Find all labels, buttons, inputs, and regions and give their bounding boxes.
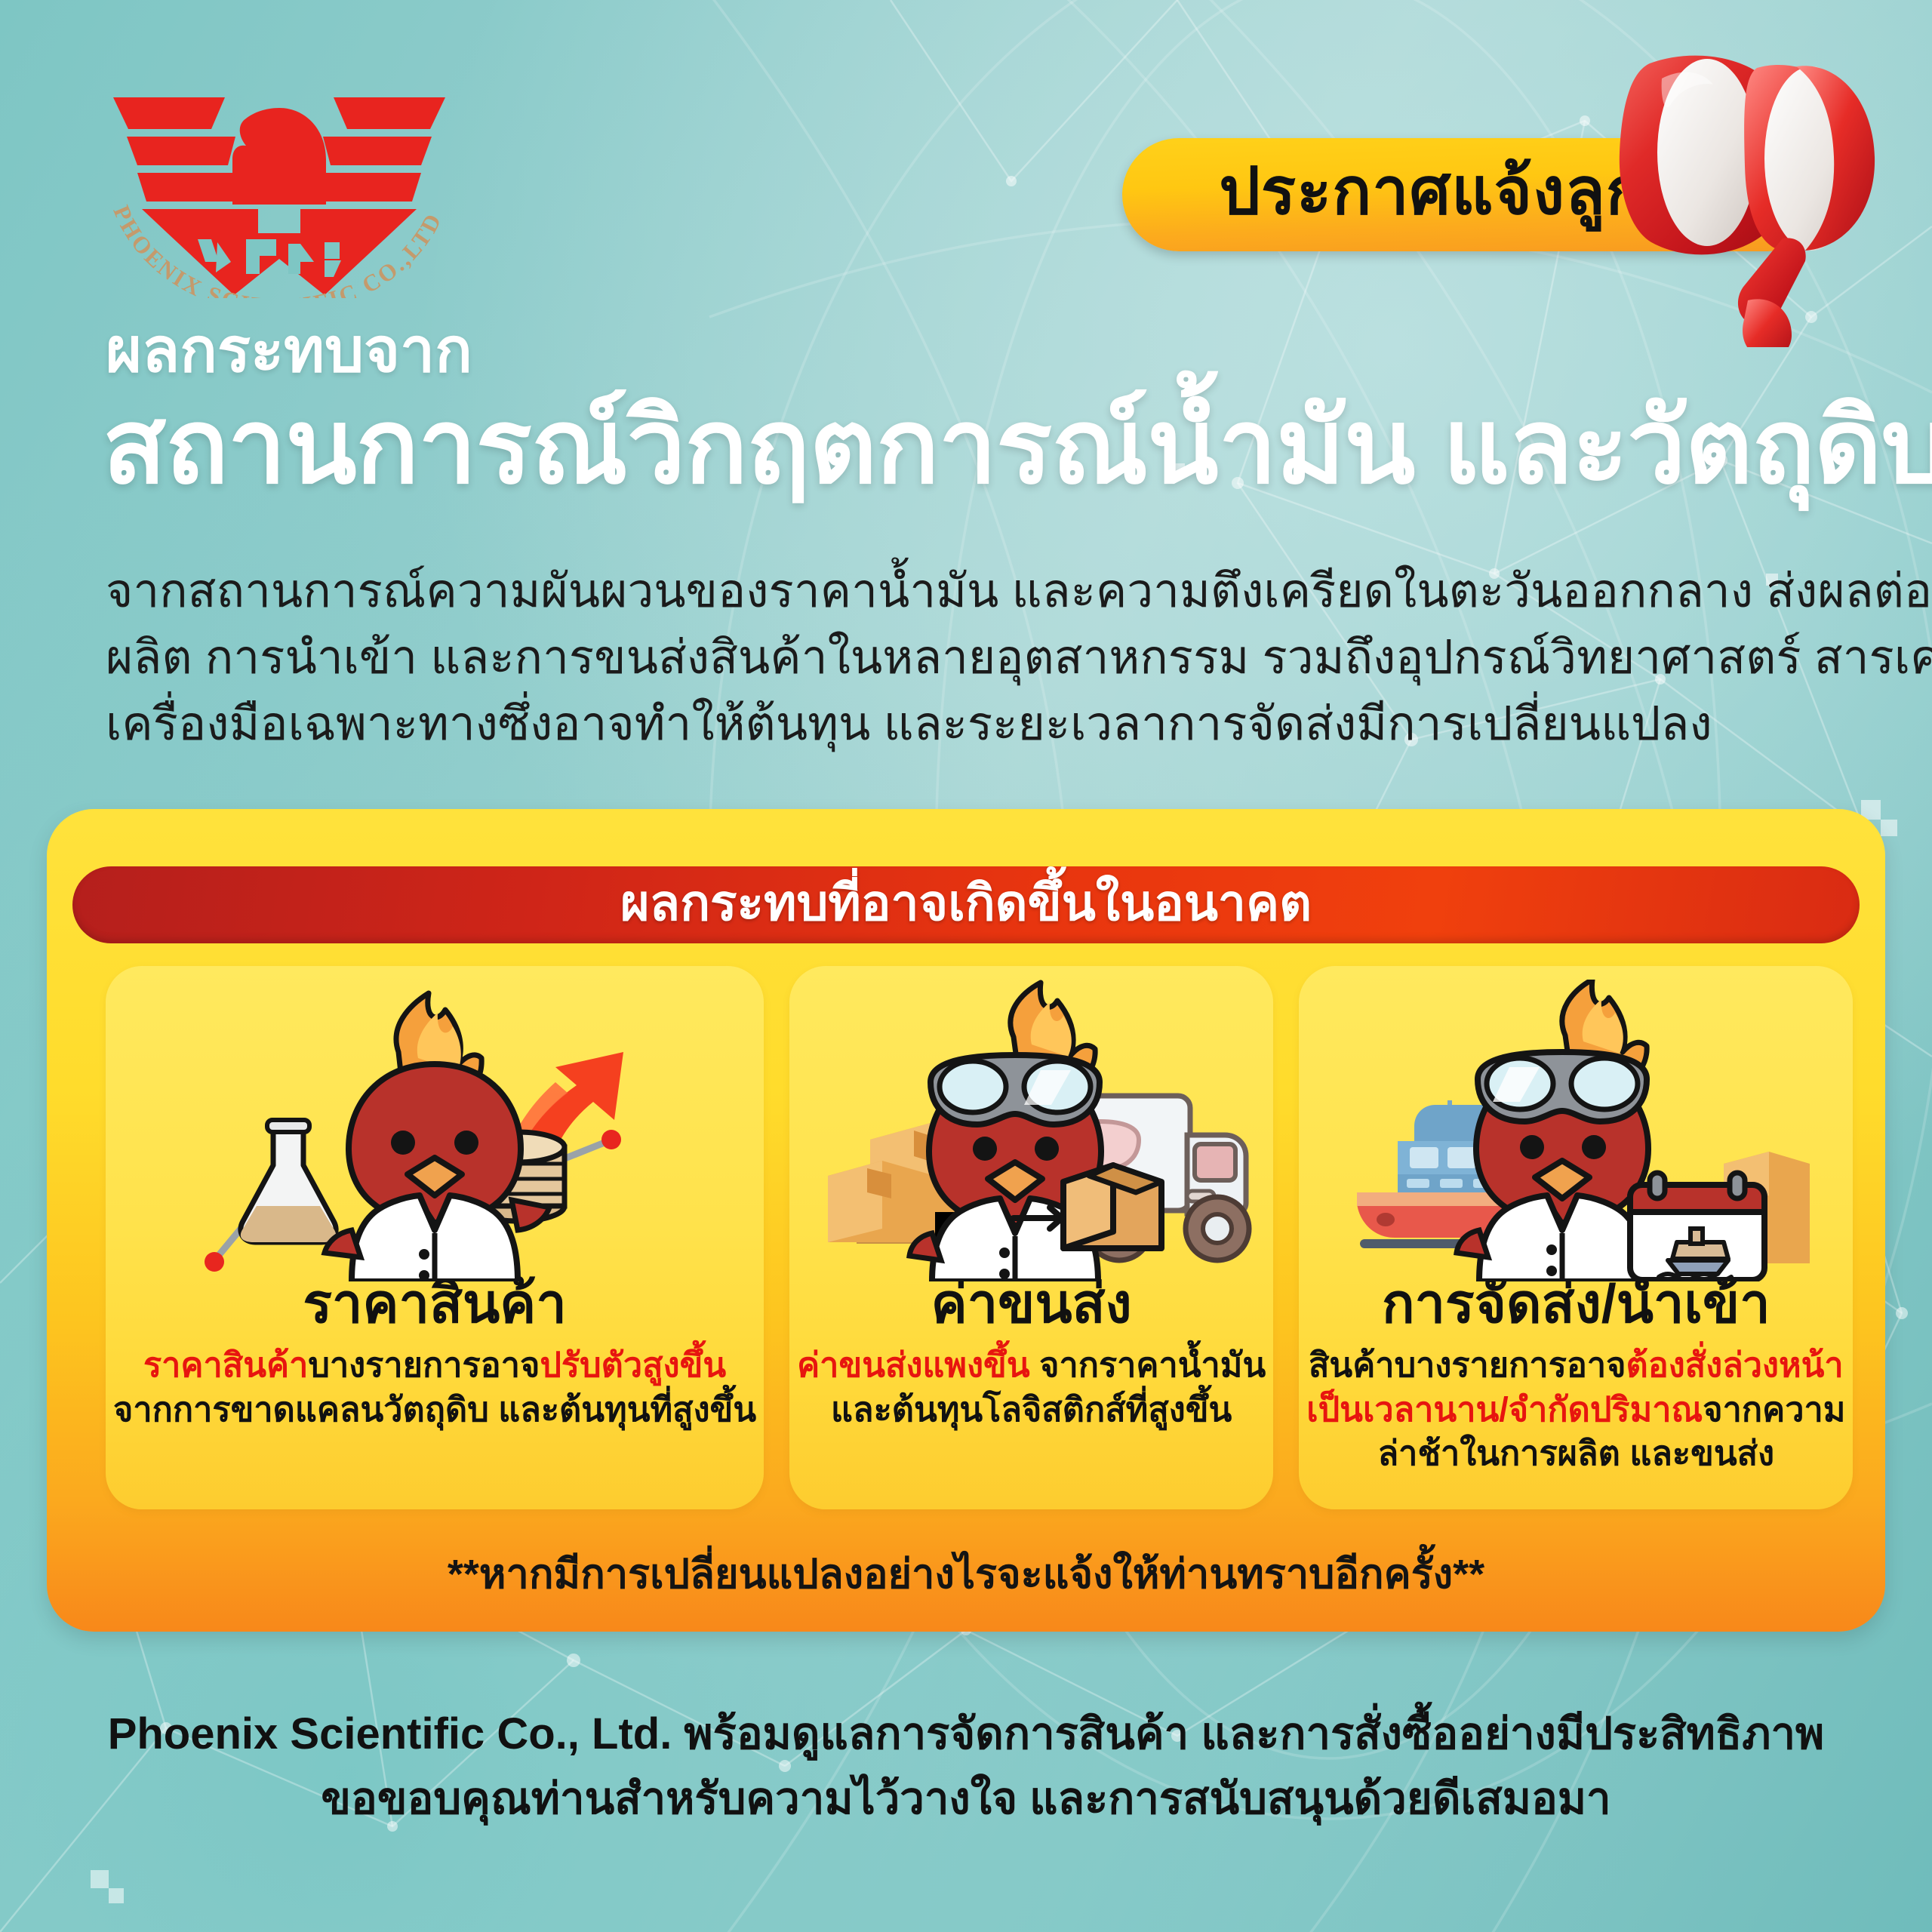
impact-panel-banner: ผลกระทบที่อาจเกิดขึ้นในอนาคต — [72, 866, 1860, 943]
page-eyebrow: ผลกระทบจาก — [106, 317, 472, 385]
impact-card-title: ราคาสินค้า — [303, 1277, 566, 1331]
impact-card-list: ราคาสินค้า ราคาสินค้าบางรายการอาจปรับตัว… — [106, 966, 1826, 1509]
intro-paragraph: จากสถานการณ์ความผันผวนของราคาน้ำมัน และค… — [106, 558, 1841, 758]
phoenix-with-flask-coins-arrow-icon — [106, 980, 764, 1281]
phoenix-with-ship-calendar-icon — [1299, 980, 1853, 1281]
phoenix-with-truck-boxes-icon — [789, 980, 1273, 1281]
desc-seg: และต้นทุนโลจิสติกส์ที่สูงขึ้น — [831, 1390, 1232, 1429]
panel-footnote: **หากมีการเปลี่ยนแปลงอย่างไรจะแจ้งให้ท่า… — [0, 1541, 1932, 1606]
desc-seg: จากความ — [1703, 1390, 1845, 1429]
footer-line: ขอขอบคุณท่านสำหรับความไว้วางใจ และการสนั… — [0, 1767, 1932, 1832]
desc-seg: ล่าช้าในการผลิต และขนส่ง — [1378, 1434, 1774, 1472]
impact-card-title: การจัดส่ง/นำเข้า — [1382, 1277, 1770, 1331]
desc-seg: จากการขาดแคลนวัตถุดิบ และต้นทุนที่สูงขึ้… — [113, 1390, 756, 1429]
intro-line: ผลิต การนำเข้า และการขนส่งสินค้าในหลายอุ… — [106, 625, 1841, 691]
impact-card-description: ค่าขนส่งแพงขึ้น จากราคาน้ำมัน และต้นทุนโ… — [789, 1343, 1273, 1432]
desc-seg: สินค้าบางรายการอาจ — [1309, 1346, 1626, 1384]
impact-card-description: สินค้าบางรายการอาจต้องสั่งล่วงหน้า เป็นเ… — [1299, 1343, 1853, 1476]
page-title: สถานการณ์วิกฤตการณ์น้ำมัน และวัตถุดิบ — [103, 392, 1932, 502]
intro-line: จากสถานการณ์ความผันผวนของราคาน้ำมัน และค… — [106, 558, 1841, 625]
desc-seg: บางรายการอาจ — [308, 1346, 540, 1384]
impact-card-description: ราคาสินค้าบางรายการอาจปรับตัวสูงขึ้น จาก… — [106, 1343, 764, 1432]
desc-seg: ค่าขนส่งแพงขึ้น — [797, 1346, 1030, 1384]
megaphone-icon — [1577, 45, 1894, 347]
desc-seg: ปรับตัวสูงขึ้น — [540, 1346, 726, 1384]
footer-line: Phoenix Scientific Co., Ltd. พร้อมดูแลกา… — [0, 1702, 1932, 1767]
impact-card-delivery-import[interactable]: การจัดส่ง/นำเข้า สินค้าบางรายการอาจต้องส… — [1299, 966, 1853, 1509]
impact-card-shipping-cost[interactable]: ค่าขนส่ง ค่าขนส่งแพงขึ้น จากราคาน้ำมัน แ… — [789, 966, 1273, 1509]
impact-card-title: ค่าขนส่ง — [931, 1277, 1132, 1331]
company-logo: PHOENIX SCIENTIFIC CO.,LTD. — [98, 72, 460, 298]
impact-panel-banner-label: ผลกระทบที่อาจเกิดขึ้นในอนาคต — [620, 878, 1312, 932]
desc-seg: จากราคาน้ำมัน — [1030, 1346, 1266, 1384]
desc-seg: เป็นเวลานาน/จำกัดปริมาณ — [1306, 1390, 1703, 1429]
phoenix-wings-logo-icon: PHOENIX SCIENTIFIC CO.,LTD. — [98, 72, 460, 298]
intro-line: เครื่องมือเฉพาะทางซึ่งอาจทำให้ต้นทุน และ… — [106, 691, 1841, 758]
desc-seg: ต้องสั่งล่วงหน้า — [1626, 1346, 1844, 1384]
impact-card-price[interactable]: ราคาสินค้า ราคาสินค้าบางรายการอาจปรับตัว… — [106, 966, 764, 1509]
desc-seg: ราคาสินค้า — [143, 1346, 308, 1384]
footer-message: Phoenix Scientific Co., Ltd. พร้อมดูแลกา… — [0, 1702, 1932, 1832]
